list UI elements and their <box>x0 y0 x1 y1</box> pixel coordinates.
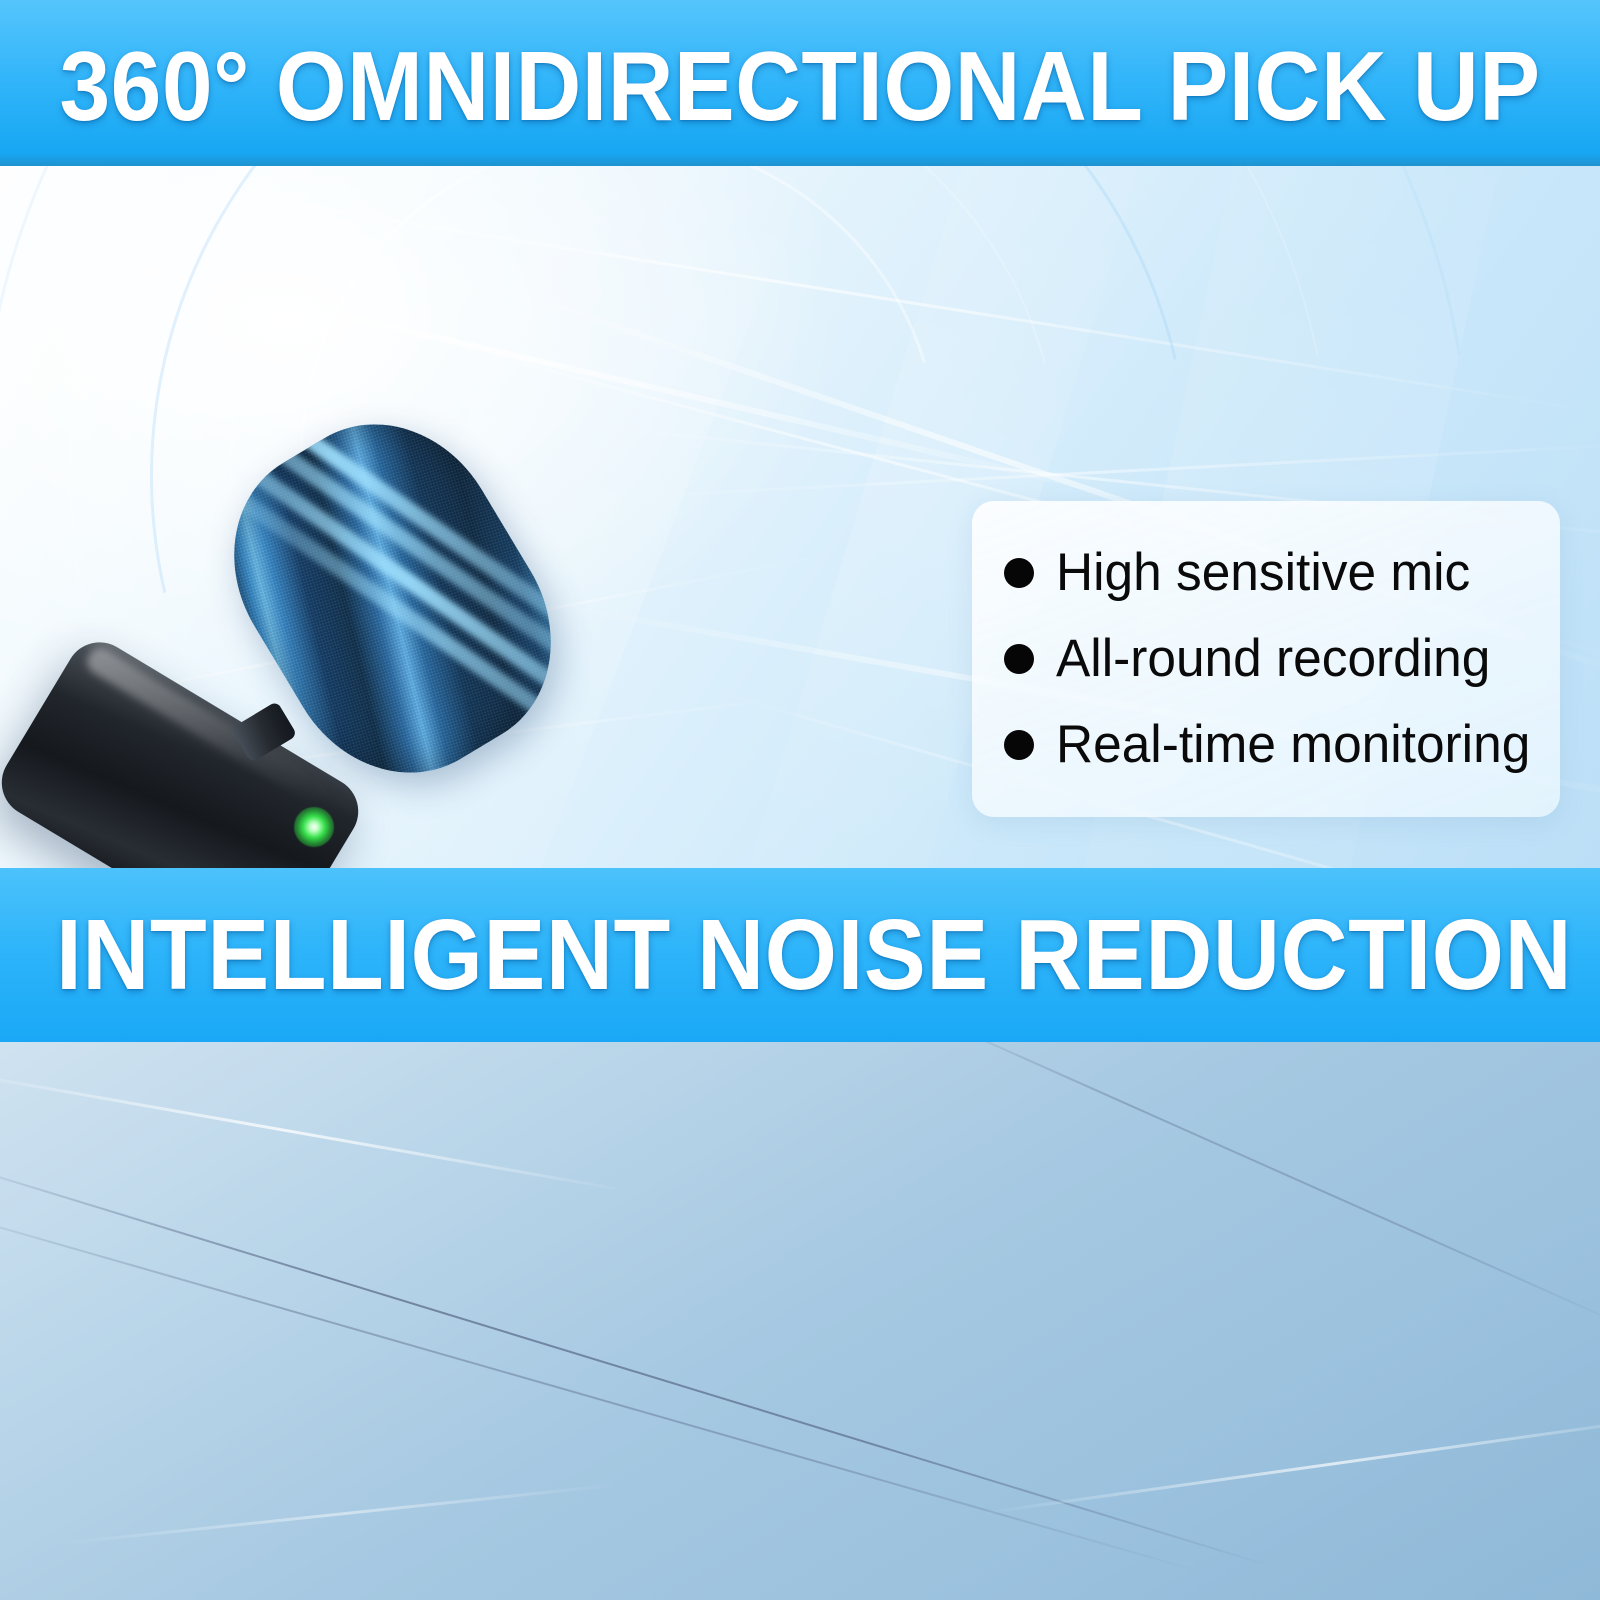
product-feature-page: 360° OMNIDIRECTIONAL PICK UP <box>0 0 1600 1600</box>
bullet-dot-icon <box>1004 644 1034 674</box>
banner-noise-reduction-title: INTELLIGENT NOISE REDUCTION <box>56 904 1544 1006</box>
bullet-dot-icon <box>1004 558 1034 588</box>
banner-omnidirectional: 360° OMNIDIRECTIONAL PICK UP <box>0 0 1600 166</box>
feature-label: High sensitive mic <box>1056 543 1470 603</box>
feature-label: Real-time monitoring <box>1056 715 1530 775</box>
lavalier-microphone-tilted <box>0 416 720 868</box>
feature-item: High sensitive mic <box>1004 530 1560 616</box>
feature-item: All-round recording <box>1004 616 1560 702</box>
bullet-dot-icon <box>1004 730 1034 760</box>
status-led-green-icon <box>294 807 334 847</box>
banner-noise-reduction: INTELLIGENT NOISE REDUCTION <box>0 868 1600 1042</box>
section-omnidirectional-pickup: High sensitive mic All-round recording R… <box>0 166 1600 868</box>
feature-label: All-round recording <box>1056 629 1490 689</box>
section-noise-reduction: Crystal clear sound High density sponge … <box>0 1042 1600 1600</box>
feature-panel-pickup: High sensitive mic All-round recording R… <box>972 501 1560 817</box>
feature-item: Real-time monitoring <box>1004 702 1560 788</box>
banner-omnidirectional-title: 360° OMNIDIRECTIONAL PICK UP <box>56 30 1544 136</box>
